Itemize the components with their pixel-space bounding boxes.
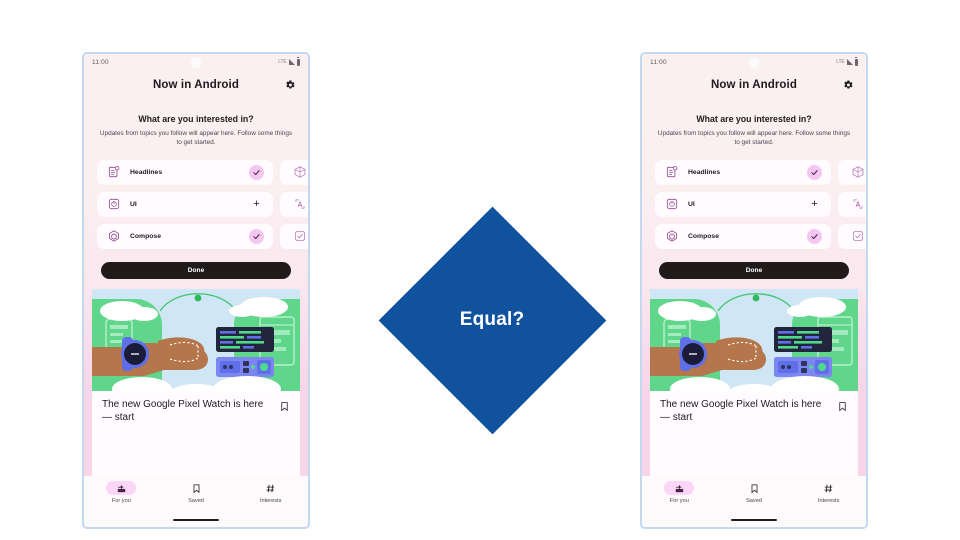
pixel-watch-on-wrist-illustration	[650, 289, 858, 391]
headlines-document-icon	[106, 165, 121, 180]
app-bar: Now in Android	[642, 70, 866, 100]
feed-card[interactable]: The new Google Pixel Watch is here — sta…	[92, 289, 300, 476]
topic-label: Compose	[688, 233, 807, 240]
comparison-indicator: Equal?	[378, 206, 606, 434]
topic-grid: Headlines UI	[642, 148, 866, 249]
topic-row: Compose	[97, 224, 308, 249]
signal-bars-icon	[847, 59, 853, 65]
topic-card-secondary-checkbox[interactable]	[280, 224, 308, 249]
battery-icon	[855, 59, 859, 66]
nav-label: Interests	[818, 498, 839, 504]
topic-plus-icon[interactable]: +	[807, 197, 822, 212]
app-title: Now in Android	[153, 79, 239, 91]
network-label: LTE	[278, 59, 286, 65]
status-bar-time: 11:00	[650, 59, 667, 66]
status-bar-time: 11:00	[92, 59, 109, 66]
bookmark-icon	[181, 481, 211, 495]
app-bar: Now in Android	[84, 70, 308, 100]
nav-label: For you	[670, 498, 689, 504]
phone-screen: 11:00 LTE Now in Android What are you in…	[642, 54, 866, 527]
topic-card-secondary-text[interactable]	[280, 192, 308, 217]
feed-card-title: The new Google Pixel Watch is here — sta…	[102, 398, 273, 424]
hash-icon	[814, 481, 844, 495]
onboarding-title: What are you interested in?	[98, 114, 294, 124]
topic-card-headlines[interactable]: Headlines	[655, 160, 831, 185]
gear-icon[interactable]	[284, 79, 296, 91]
feed-card[interactable]: The new Google Pixel Watch is here — sta…	[650, 289, 858, 476]
comparison-label: Equal?	[378, 206, 606, 434]
topic-check-icon[interactable]	[807, 165, 822, 180]
battery-icon	[297, 59, 301, 66]
topic-card-ui[interactable]: UI +	[655, 192, 831, 217]
onboarding-header: What are you interested in? Updates from…	[84, 100, 308, 148]
nav-item-saved[interactable]: Saved	[159, 481, 234, 504]
topic-card-headlines[interactable]: Headlines	[97, 160, 273, 185]
status-bar: 11:00 LTE	[84, 54, 308, 70]
topic-row: Compose	[655, 224, 866, 249]
bottom-navigation: For you Saved Interests	[642, 476, 866, 527]
topic-row: Headlines	[655, 160, 866, 185]
compose-hexagon-icon	[106, 229, 121, 244]
phone-screen: 11:00 LTE Now in Android What are you in…	[84, 54, 308, 527]
onboarding-title: What are you interested in?	[656, 114, 852, 124]
nav-label: Interests	[260, 498, 281, 504]
topic-check-icon[interactable]	[249, 165, 264, 180]
nav-item-saved[interactable]: Saved	[717, 481, 792, 504]
home-indicator	[173, 519, 219, 521]
phone-mockup-left: 11:00 LTE Now in Android What are you in…	[82, 52, 310, 529]
topic-card-secondary-text[interactable]	[838, 192, 866, 217]
feed-card-text: The new Google Pixel Watch is here — sta…	[650, 391, 858, 424]
topic-plus-icon[interactable]: +	[249, 197, 264, 212]
topic-card-secondary-checkbox[interactable]	[838, 224, 866, 249]
checkbox-icon	[851, 229, 866, 244]
front-camera-punchhole-icon	[191, 57, 202, 68]
nav-item-for-you[interactable]: For you	[642, 481, 717, 504]
topic-row: UI +	[97, 192, 308, 217]
bottom-navigation: For you Saved Interests	[84, 476, 308, 527]
nav-label: Saved	[746, 498, 762, 504]
gear-icon[interactable]	[842, 79, 854, 91]
done-button-wrap: Done	[642, 249, 866, 279]
ui-circle-icon	[664, 197, 679, 212]
feed-card-text: The new Google Pixel Watch is here — sta…	[92, 391, 300, 424]
compose-hexagon-icon	[664, 229, 679, 244]
done-button-wrap: Done	[84, 249, 308, 279]
cube-3d-icon	[293, 165, 308, 180]
checkbox-icon	[293, 229, 308, 244]
topic-label: Headlines	[688, 169, 807, 176]
topic-label: UI	[688, 201, 807, 208]
phone-mockup-right: 11:00 LTE Now in Android What are you in…	[640, 52, 868, 529]
topic-label: UI	[130, 201, 249, 208]
bookmark-icon[interactable]	[837, 400, 848, 413]
text-a-icon	[851, 197, 866, 212]
topic-check-icon[interactable]	[249, 229, 264, 244]
for-you-icon	[106, 481, 136, 495]
bookmark-icon	[739, 481, 769, 495]
nav-item-for-you[interactable]: For you	[84, 481, 159, 504]
topic-card-secondary-cube[interactable]	[280, 160, 308, 185]
status-bar: 11:00 LTE	[642, 54, 866, 70]
topic-check-icon[interactable]	[807, 229, 822, 244]
nav-item-interests[interactable]: Interests	[233, 481, 308, 504]
nav-label: For you	[112, 498, 131, 504]
status-bar-indicators: LTE	[836, 59, 858, 66]
status-bar-indicators: LTE	[278, 59, 300, 66]
feed-card-title: The new Google Pixel Watch is here — sta…	[660, 398, 831, 424]
topic-card-compose[interactable]: Compose	[97, 224, 273, 249]
text-a-icon	[293, 197, 308, 212]
for-you-icon	[664, 481, 694, 495]
home-indicator	[731, 519, 777, 521]
topic-row: Headlines	[97, 160, 308, 185]
onboarding-subtitle: Updates from topics you follow will appe…	[656, 129, 852, 148]
app-title: Now in Android	[711, 79, 797, 91]
topic-label: Headlines	[130, 169, 249, 176]
topic-row: UI +	[655, 192, 866, 217]
done-button[interactable]: Done	[101, 262, 291, 279]
topic-card-compose[interactable]: Compose	[655, 224, 831, 249]
topic-card-secondary-cube[interactable]	[838, 160, 866, 185]
signal-bars-icon	[289, 59, 295, 65]
front-camera-punchhole-icon	[749, 57, 760, 68]
pixel-watch-on-wrist-illustration	[92, 289, 300, 391]
done-button[interactable]: Done	[659, 262, 849, 279]
onboarding-subtitle: Updates from topics you follow will appe…	[98, 129, 294, 148]
bookmark-icon[interactable]	[279, 400, 290, 413]
nav-item-interests[interactable]: Interests	[791, 481, 866, 504]
topic-label: Compose	[130, 233, 249, 240]
hash-icon	[256, 481, 286, 495]
headlines-document-icon	[664, 165, 679, 180]
nav-label: Saved	[188, 498, 204, 504]
topic-card-ui[interactable]: UI +	[97, 192, 273, 217]
onboarding-header: What are you interested in? Updates from…	[642, 100, 866, 148]
topic-grid: Headlines UI	[84, 148, 308, 249]
cube-3d-icon	[851, 165, 866, 180]
ui-circle-icon	[106, 197, 121, 212]
network-label: LTE	[836, 59, 844, 65]
